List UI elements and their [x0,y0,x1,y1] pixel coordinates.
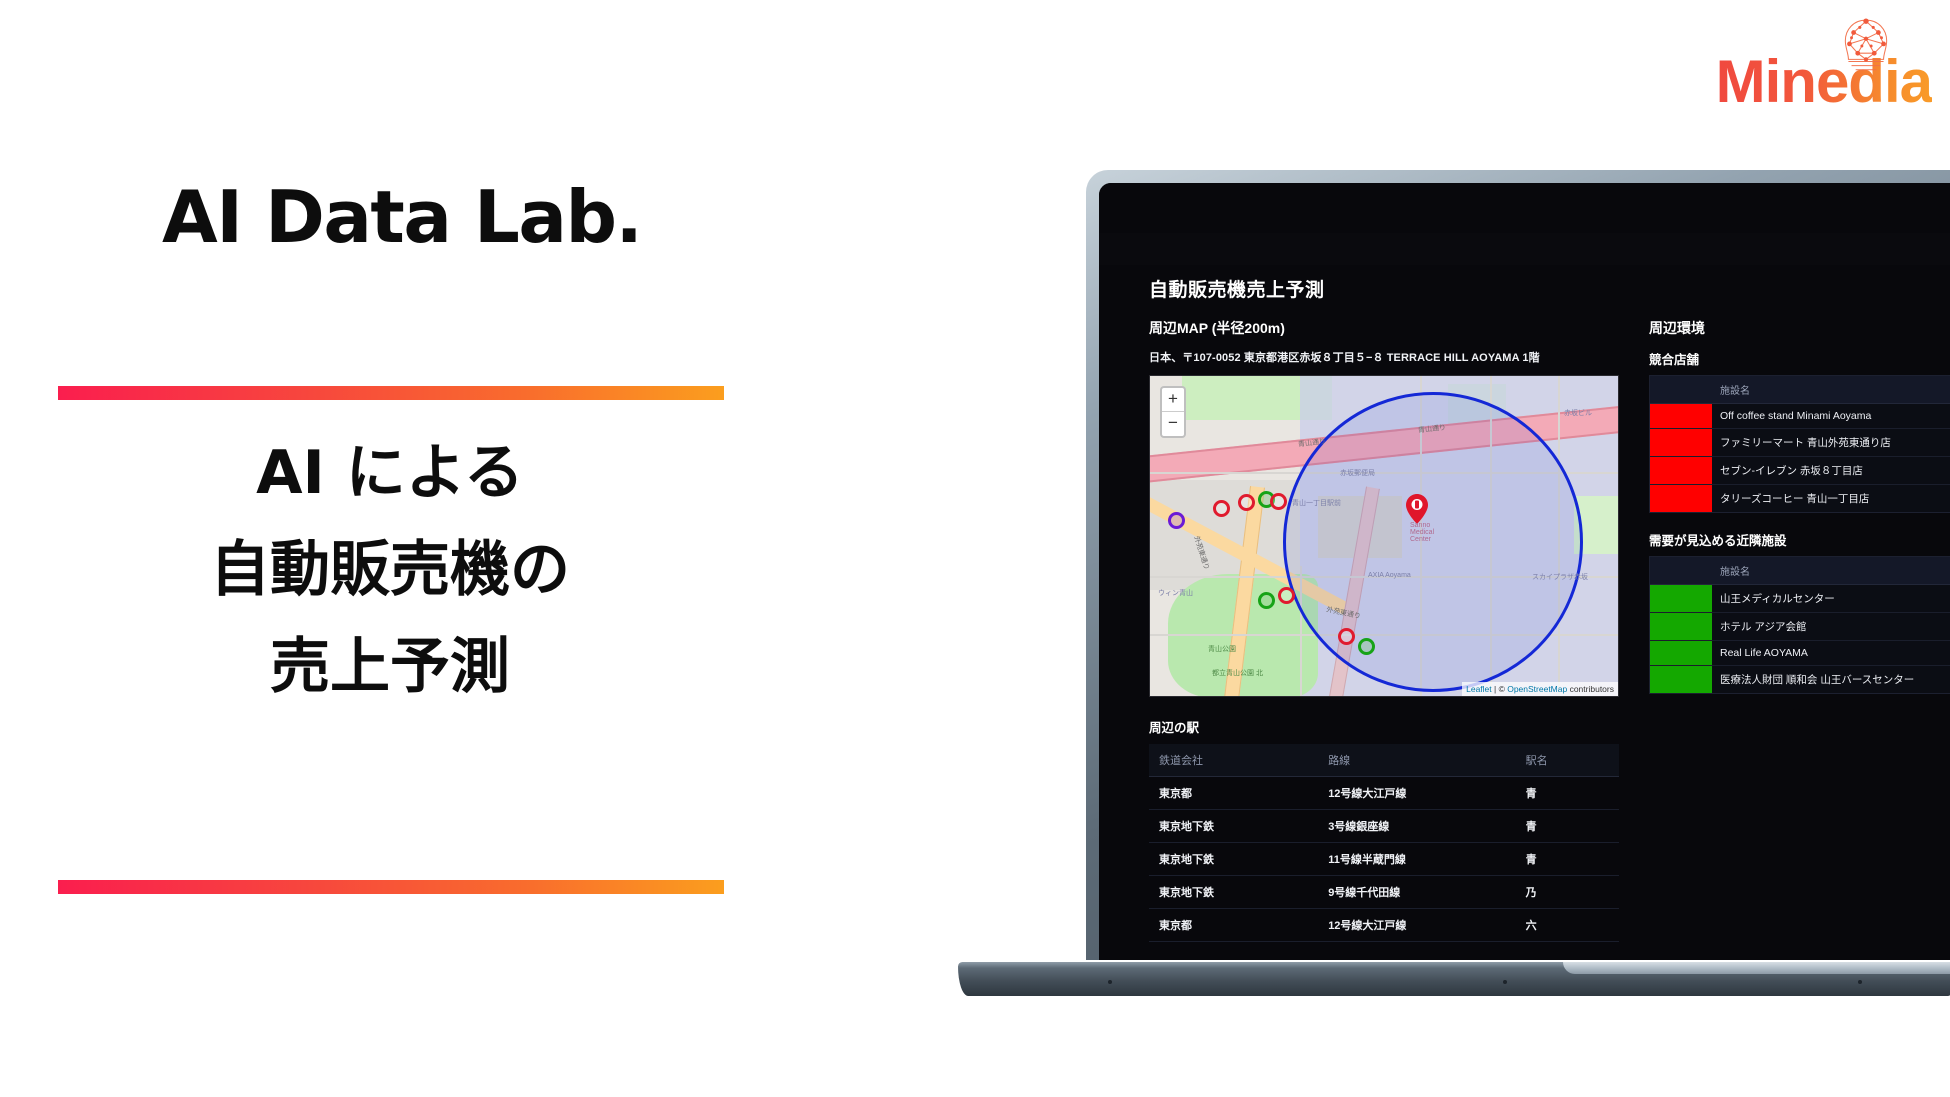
railway-company-cell: 東京地下鉄 [1149,810,1318,843]
stations-body: 東京都12号線大江戸線青東京地下鉄3号線銀座線青東京地下鉄11号線半蔵門線青東京… [1149,777,1619,942]
map-label: 青山公園 [1208,644,1236,654]
station-name-cell: 乃 [1516,876,1619,909]
competitors-subheading: 競合店舗 [1649,349,1950,368]
distance-cell [1942,666,1950,694]
subtitle-line-1: AI による [0,425,780,522]
map-label: スカイプラザ赤坂 [1532,572,1588,582]
stations-table: 鉄道会社 路線 駅名 東京都12号線大江戸線青東京地下鉄3号線銀座線青東京地下鉄… [1149,744,1619,942]
map-label: AXIA Aoyama [1368,572,1411,579]
col-facility-name: 施設名 [1712,376,1942,404]
dashboard-right-pane: 周辺環境 競合店舗 施設名 距 [1649,318,1950,942]
col-facility-name: 施設名 [1712,557,1942,585]
laptop-screen: 自動販売機売上予測 周辺MAP (半径200m) 日本、〒107-0052 東京… [1099,183,1950,960]
facility-name-cell: セブン-イレブン 赤坂８丁目店 [1712,457,1942,485]
map-zoom-out-button[interactable]: − [1162,412,1184,436]
laptop-base [958,950,1950,1012]
facility-name-cell: ファミリーマート 青山外苑東通り店 [1712,429,1942,457]
stations-table-wrapper: 鉄道会社 路線 駅名 東京都12号線大江戸線青東京地下鉄3号線銀座線青東京地下鉄… [1149,744,1619,942]
attribution-suffix: contributors [1567,684,1614,694]
map-label: Sanno Medical Center [1410,522,1444,543]
col-railway-company: 鉄道会社 [1149,744,1318,777]
table-row[interactable]: ファミリーマート 青山外苑東通り店 [1650,429,1950,457]
table-row[interactable]: セブン-イレブン 赤坂８丁目店 [1650,457,1950,485]
map-attribution[interactable]: Leaflet | © OpenStreetMap contributors [1462,682,1618,696]
facility-name-cell: 山王メディカルセンター [1712,585,1942,613]
laptop-lid: 自動販売機売上予測 周辺MAP (半径200m) 日本、〒107-0052 東京… [1086,170,1950,960]
base-foot [1503,980,1507,984]
col-color-swatch [1650,376,1712,404]
subtitle-line-3: 売上予測 [0,619,780,716]
competitors-table-wrapper: 施設名 距 Off coffee stand Minami Aoyamaファミリ… [1649,375,1950,513]
map-marker-competitor[interactable] [1238,494,1255,511]
station-name-cell: 六 [1516,909,1619,942]
dashboard-topbar [1099,233,1950,265]
laptop-base-notch [1563,962,1950,974]
map-label: ウィン青山 [1158,588,1193,598]
environment-heading: 周辺環境 [1649,318,1950,338]
stations-heading: 周辺の駅 [1149,717,1619,736]
demand-subheading: 需要が見込める近隣施設 [1649,530,1950,549]
facility-name-cell: Off coffee stand Minami Aoyama [1712,404,1942,429]
demand-table: 施設名 距 山王メディカルセンターホテル アジア会館Real Life AOYA… [1650,557,1950,693]
map-location-pin-icon[interactable] [1406,494,1428,524]
demand-table-wrapper: 施設名 距 山王メディカルセンターホテル アジア会館Real Life AOYA… [1649,556,1950,694]
competitors-body: Off coffee stand Minami Aoyamaファミリーマート 青… [1650,404,1950,513]
station-name-cell: 青 [1516,777,1619,810]
map-marker-demand[interactable] [1358,638,1375,655]
facility-name-cell: 医療法人財団 順和会 山王バースセンター [1712,666,1942,694]
subtitle-line-2: 自動販売機の [0,522,780,619]
map-marker-demand[interactable] [1258,592,1275,609]
col-line: 路線 [1318,744,1515,777]
location-address: 日本、〒107-0052 東京都港区赤坂８丁目５−８ TERRACE HILL … [1149,349,1619,365]
competitors-header-row: 施設名 距 [1650,376,1950,404]
map-marker-competitor[interactable] [1270,493,1287,510]
map-marker-competitor[interactable] [1213,500,1230,517]
leaflet-map[interactable]: + − 青山通り 青山通り 赤坂郵便局 青山一丁目駅前 外苑東通り 外苑東通り … [1149,375,1619,697]
table-row[interactable]: 医療法人財団 順和会 山王バースセンター [1650,666,1950,694]
dashboard-title: 自動販売機売上予測 [1099,265,1950,302]
map-label: 都立青山公園 北 [1212,668,1263,678]
color-swatch-cell [1650,641,1712,666]
map-marker-other[interactable] [1168,512,1185,529]
left-content-column: AI Data Lab. AI による 自動販売機の 売上予測 [0,0,830,1097]
table-row[interactable]: Real Life AOYAMA [1650,641,1950,666]
distance-cell [1942,404,1950,429]
table-row[interactable]: タリーズコーヒー 青山一丁目店 [1650,485,1950,513]
line-cell: 12号線大江戸線 [1318,909,1515,942]
demand-body: 山王メディカルセンターホテル アジア会館Real Life AOYAMA医療法人… [1650,585,1950,694]
col-color-swatch [1650,557,1712,585]
base-foot [1108,980,1112,984]
table-row[interactable]: 東京都12号線大江戸線六 [1149,909,1619,942]
dashboard-left-pane: 周辺MAP (半径200m) 日本、〒107-0052 東京都港区赤坂８丁目５−… [1149,318,1619,942]
color-swatch-cell [1650,585,1712,613]
color-swatch-cell [1650,666,1712,694]
demand-header-row: 施設名 距 [1650,557,1950,585]
facility-name-cell: ホテル アジア会館 [1712,613,1942,641]
distance-cell [1942,613,1950,641]
distance-cell [1942,429,1950,457]
station-name-cell: 青 [1516,843,1619,876]
col-distance: 距 [1942,376,1950,404]
color-swatch-cell [1650,429,1712,457]
facility-name-cell: タリーズコーヒー 青山一丁目店 [1712,485,1942,513]
divider-top [58,386,724,400]
competitors-table: 施設名 距 Off coffee stand Minami Aoyamaファミリ… [1650,376,1950,512]
color-swatch-cell [1650,613,1712,641]
color-swatch-cell [1650,485,1712,513]
attribution-separator: | © [1492,684,1508,694]
railway-company-cell: 東京都 [1149,909,1318,942]
table-row[interactable]: 東京地下鉄9号線千代田線乃 [1149,876,1619,909]
table-row[interactable]: 山王メディカルセンター [1650,585,1950,613]
base-foot [1858,980,1862,984]
table-row[interactable]: 東京地下鉄11号線半蔵門線青 [1149,843,1619,876]
col-distance: 距 [1942,557,1950,585]
table-row[interactable]: Off coffee stand Minami Aoyama [1650,404,1950,429]
table-row[interactable]: 東京都12号線大江戸線青 [1149,777,1619,810]
color-swatch-cell [1650,404,1712,429]
railway-company-cell: 東京都 [1149,777,1318,810]
map-marker-competitor[interactable] [1338,628,1355,645]
map-marker-competitor[interactable] [1278,587,1295,604]
laptop-mockup: 自動販売機売上予測 周辺MAP (半径200m) 日本、〒107-0052 東京… [958,170,1950,1050]
station-name-cell: 青 [1516,810,1619,843]
line-cell: 12号線大江戸線 [1318,777,1515,810]
railway-company-cell: 東京地下鉄 [1149,843,1318,876]
stations-header-row: 鉄道会社 路線 駅名 [1149,744,1619,777]
leaflet-link[interactable]: Leaflet [1466,684,1492,694]
brain-network-icon [1835,16,1897,78]
distance-cell [1942,585,1950,613]
color-swatch-cell [1650,457,1712,485]
dashboard-body: 周辺MAP (半径200m) 日本、〒107-0052 東京都港区赤坂８丁目５−… [1099,302,1950,942]
col-station-name: 駅名 [1516,744,1619,777]
map-section-heading: 周辺MAP (半径200m) [1149,318,1619,338]
minedia-logo: Minedia [1716,26,1932,112]
distance-cell [1942,485,1950,513]
distance-cell [1942,457,1950,485]
divider-bottom [58,880,724,894]
table-row[interactable]: 東京地下鉄3号線銀座線青 [1149,810,1619,843]
osm-link[interactable]: OpenStreetMap [1507,684,1567,694]
line-cell: 3号線銀座線 [1318,810,1515,843]
line-cell: 11号線半蔵門線 [1318,843,1515,876]
railway-company-cell: 東京地下鉄 [1149,876,1318,909]
logo-wordmark: Minedia [1716,52,1932,112]
dashboard-app: 自動販売機売上予測 周辺MAP (半径200m) 日本、〒107-0052 東京… [1099,183,1950,960]
map-label: 赤坂ビル [1564,408,1592,418]
line-cell: 9号線千代田線 [1318,876,1515,909]
map-label: 青山一丁目駅前 [1292,498,1341,508]
table-row[interactable]: ホテル アジア会館 [1650,613,1950,641]
map-zoom-in-button[interactable]: + [1162,388,1184,412]
facility-name-cell: Real Life AOYAMA [1712,641,1942,666]
page-title: AI Data Lab. [162,180,641,256]
map-label: 赤坂郵便局 [1340,468,1375,478]
map-zoom-control[interactable]: + − [1160,386,1186,438]
distance-cell [1942,641,1950,666]
subtitle-block: AI による 自動販売機の 売上予測 [0,425,780,717]
